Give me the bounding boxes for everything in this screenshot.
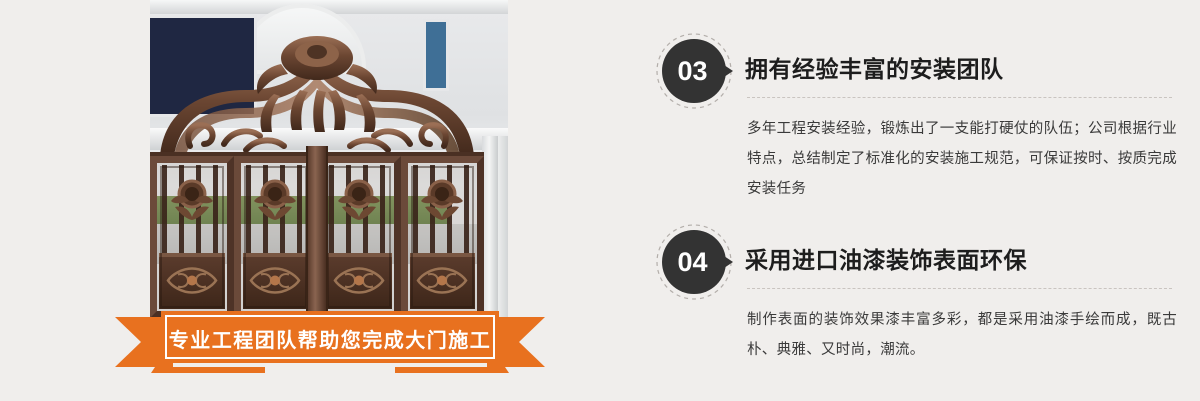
feature-divider-03 [747, 97, 1172, 98]
gate-panel [159, 253, 225, 309]
promo-banner-page: 专业工程团队帮助您完成大门施工 03 拥有经验丰富的安装团队 多年工程安装经验，… [0, 0, 1200, 401]
gate-medallion [248, 179, 302, 223]
gate-bars [413, 165, 473, 257]
gate-rosette [331, 267, 387, 300]
gate-balusters [162, 255, 222, 281]
feature-number-03: 03 [655, 32, 733, 110]
gate-medallion [165, 179, 219, 223]
feature-list: 03 拥有经验丰富的安装团队 多年工程安装经验，锻炼出了一支能打硬仗的队伍；公司… [655, 0, 1200, 401]
building-pilaster-b [498, 136, 508, 318]
feature-badge-04: 04 [655, 223, 733, 301]
ribbon-banner: 专业工程团队帮助您完成大门施工 [115, 311, 545, 373]
feature-heading-03: 拥有经验丰富的安装团队 [745, 50, 1004, 84]
feature-badge-03: 03 [655, 32, 733, 110]
gate-photo [150, 0, 508, 318]
gate-bars [162, 165, 222, 257]
gate-rosette [247, 267, 303, 300]
ribbon-right-fold [395, 367, 509, 373]
gate-rosette [164, 267, 220, 300]
gate-medallion [415, 179, 469, 223]
gate-balusters [329, 255, 389, 281]
gate-leaf [234, 156, 318, 318]
gate-bars [246, 165, 306, 257]
gate-panel [326, 253, 392, 309]
gate-medallion [332, 179, 386, 223]
gate-photo-canvas [150, 0, 508, 318]
gate-rosette [414, 267, 470, 300]
gate-balusters [246, 255, 306, 281]
feature-body-03: 多年工程安装经验，锻炼出了一支能打硬仗的队伍；公司根据行业特点，总结制定了标准化… [747, 114, 1177, 204]
feature-heading-04: 采用进口油漆装饰表面环保 [745, 241, 1027, 275]
gate-bars [329, 165, 389, 257]
feature-number-04: 04 [655, 223, 733, 301]
gate-panel [243, 253, 309, 309]
bronze-gate [150, 34, 484, 318]
gate-balusters [413, 255, 473, 281]
gate-leaf [317, 156, 401, 318]
building-pilaster-a [482, 136, 498, 318]
feature-body-04: 制作表面的装饰效果漆丰富多彩，都是采用油漆手绘而成，既古朴、典雅、又时尚，潮流。 [747, 305, 1177, 365]
feature-divider-04 [747, 288, 1172, 289]
gate-panel [410, 253, 476, 309]
gate-leaf [401, 156, 485, 318]
ribbon-label: 专业工程团队帮助您完成大门施工 [115, 324, 545, 358]
ribbon-left-fold [151, 367, 265, 373]
gate-center-mullion [306, 146, 328, 318]
gate-leaf [150, 156, 234, 318]
